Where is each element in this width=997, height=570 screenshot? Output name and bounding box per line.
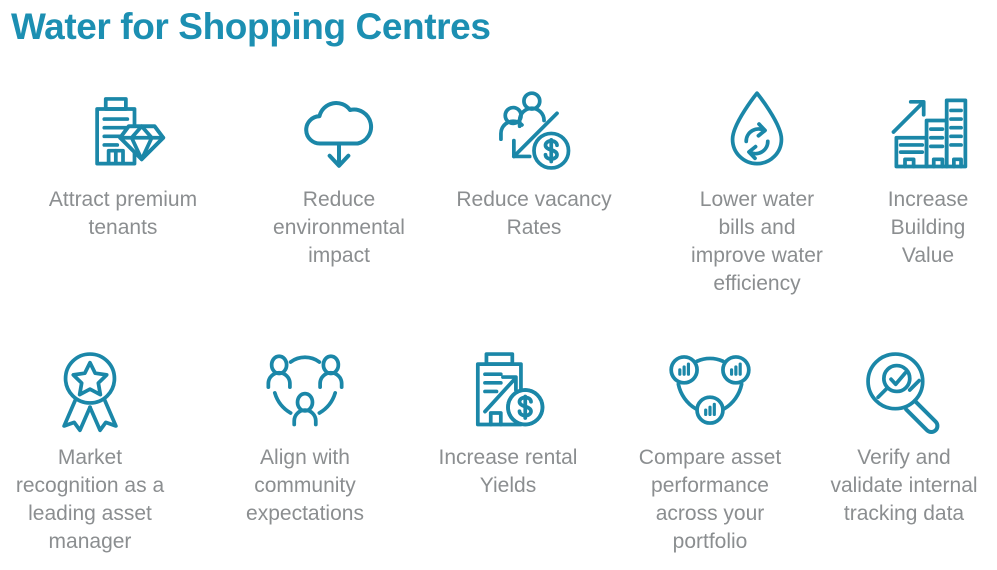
benefit-label: Reduce vacancy Rates [456,186,611,242]
buildings-growth-arrow-icon [880,84,976,180]
benefit-item-lower-water-bills: Lower water bills and improve water effi… [662,84,852,298]
benefit-label: Reduce environmental impact [273,186,405,270]
cloud-down-arrow-icon [291,84,387,180]
benefit-label: Increase rental Yields [439,444,578,500]
people-network-icon [257,342,353,438]
benefit-item-reduce-environmental-impact: Reduce environmental impact [246,84,432,270]
benefit-label: Lower water bills and improve water effi… [691,186,823,298]
benefit-item-align-with-community: Align with community expectations [210,342,400,528]
benefit-item-attract-premium-tenants: Attract premium tenants [16,84,230,242]
benefits-row-2: Market recognition as a leading asset ma… [0,342,997,556]
benefit-label: Align with community expectations [246,444,364,528]
water-drop-recycle-icon [709,84,805,180]
benefit-item-increase-building-value: Increase Building Value [864,84,992,270]
benefit-item-verify-validate-data: Verify and validate internal tracking da… [811,342,997,528]
benefit-item-market-recognition: Market recognition as a leading asset ma… [0,342,180,556]
page-title: Water for Shopping Centres [11,6,491,48]
people-down-arrow-dollar-icon [486,84,582,180]
benefit-label: Increase Building Value [864,186,992,270]
benefit-label: Verify and validate internal tracking da… [830,444,977,528]
building-with-diamond-icon [75,84,171,180]
benefit-item-reduce-vacancy-rates: Reduce vacancy Rates [436,84,632,242]
benefits-infographic: Water for Shopping Centres Attract premi… [0,0,997,570]
award-ribbon-star-icon [42,342,138,438]
benefit-item-compare-asset-performance: Compare asset performance across your po… [617,342,803,556]
benefit-label: Attract premium tenants [49,186,197,242]
document-growth-dollar-icon [460,342,556,438]
magnifier-check-icon [856,342,952,438]
benefit-label: Market recognition as a leading asset ma… [16,444,164,556]
connected-charts-icon [662,342,758,438]
benefit-label: Compare asset performance across your po… [639,444,781,556]
benefits-row-1: Attract premium tenants Reduce environme… [0,84,997,298]
benefit-item-increase-rental-yields: Increase rental Yields [418,342,598,500]
